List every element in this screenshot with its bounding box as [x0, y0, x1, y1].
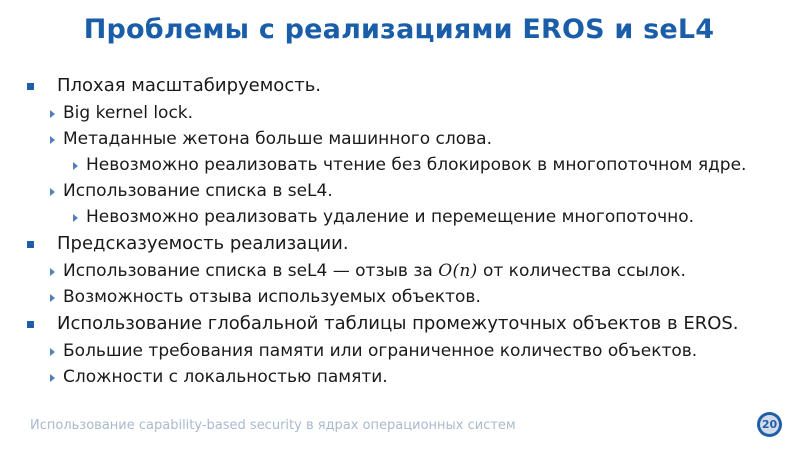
outline-item-level2: Использование списка в seL4.: [0, 178, 798, 204]
outline-item-level2: Возможность отзыва используемых объектов…: [0, 284, 798, 310]
triangle-bullet-icon: [50, 294, 55, 302]
outline-item-level2: Большие требования памяти или ограниченн…: [0, 338, 798, 364]
outline-item-text: Использование списка в seL4.: [63, 178, 333, 204]
square-bullet-icon: [27, 321, 34, 328]
outline-item-level2: Big kernel lock.: [0, 100, 798, 126]
outline-item-text: Возможность отзыва используемых объектов…: [63, 284, 481, 310]
presentation-slide: Проблемы с реализациями EROS и seL4 Плох…: [0, 0, 798, 449]
outline-item-level1: Плохая масштабируемость.: [0, 72, 798, 100]
outline-item-text: Большие требования памяти или ограниченн…: [63, 338, 697, 364]
outline-item-text-with-math: Использование списка в seL4 — отзыв за O…: [63, 258, 686, 284]
math-complexity-notation: O(n): [438, 261, 477, 281]
slide-body-outline: Плохая масштабируемость. Big kernel lock…: [0, 72, 798, 390]
outline-item-text: Метаданные жетона больше машинного слова…: [63, 126, 492, 152]
outline-item-text: Плохая масштабируемость.: [57, 72, 321, 100]
outline-item-text: Предсказуемость реализации.: [57, 230, 349, 258]
square-bullet-icon: [27, 83, 34, 90]
outline-item-level2: Использование списка в seL4 — отзыв за O…: [0, 258, 798, 284]
slide-title: Проблемы с реализациями EROS и seL4: [0, 14, 798, 45]
outline-text-before-math: Использование списка в seL4 — отзыв за: [63, 261, 438, 281]
triangle-bullet-icon: [50, 110, 55, 118]
outline-item-text: Невозможно реализовать удаление и переме…: [86, 204, 694, 230]
outline-item-text: Использование глобальной таблицы промежу…: [57, 310, 739, 338]
triangle-bullet-icon: [73, 214, 78, 222]
outline-item-level1: Использование глобальной таблицы промежу…: [0, 310, 798, 338]
page-number: 20: [757, 412, 782, 437]
outline-item-text: Сложности с локальностью памяти.: [63, 364, 388, 390]
triangle-bullet-icon: [73, 162, 78, 170]
triangle-bullet-icon: [50, 374, 55, 382]
triangle-bullet-icon: [50, 188, 55, 196]
footer-presentation-subtitle: Использование capability-based security …: [30, 418, 516, 433]
outline-item-level3: Невозможно реализовать удаление и переме…: [0, 204, 798, 230]
outline-text-after-math: от количества ссылок.: [478, 261, 686, 281]
outline-item-level2: Сложности с локальностью памяти.: [0, 364, 798, 390]
outline-item-text: Невозможно реализовать чтение без блокир…: [86, 152, 746, 178]
outline-item-level1: Предсказуемость реализации.: [0, 230, 798, 258]
triangle-bullet-icon: [50, 348, 55, 356]
page-number-badge: 20: [757, 412, 782, 437]
outline-item-level3: Невозможно реализовать чтение без блокир…: [0, 152, 798, 178]
outline-item-level2: Метаданные жетона больше машинного слова…: [0, 126, 798, 152]
square-bullet-icon: [27, 241, 34, 248]
triangle-bullet-icon: [50, 268, 55, 276]
triangle-bullet-icon: [50, 136, 55, 144]
outline-item-text: Big kernel lock.: [63, 100, 193, 126]
